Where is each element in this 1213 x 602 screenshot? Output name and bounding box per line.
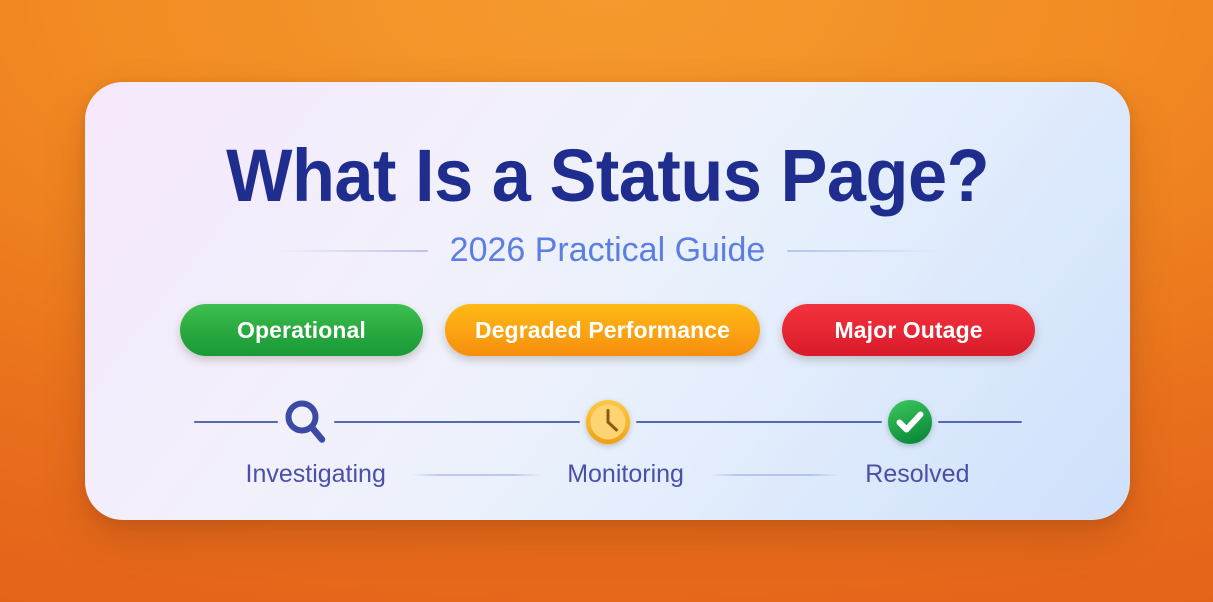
status-pill-degraded-performance[interactable]: Degraded Performance	[445, 304, 760, 356]
status-pill-row: Operational Degraded Performance Major O…	[180, 304, 1035, 356]
subtitle-rule-left	[278, 250, 428, 252]
clock-icon	[584, 398, 632, 446]
magnifier-icon	[280, 396, 332, 448]
status-pill-degraded-performance-label: Degraded Performance	[475, 317, 730, 344]
timeline-line-2	[636, 421, 882, 423]
timeline-node-investigating[interactable]	[278, 394, 334, 450]
timeline-label-rule-1	[412, 474, 541, 476]
status-pill-major-outage[interactable]: Major Outage	[782, 304, 1035, 356]
timeline-label-monitoring: Monitoring	[567, 460, 684, 489]
timeline-node-monitoring[interactable]	[580, 394, 636, 450]
subtitle-rule-right	[787, 250, 937, 252]
timeline-node-resolved[interactable]	[882, 394, 938, 450]
status-pill-major-outage-label: Major Outage	[834, 317, 982, 344]
status-pill-operational-label: Operational	[237, 317, 366, 344]
timeline-line-start	[194, 421, 278, 423]
timeline-line-end	[938, 421, 1022, 423]
timeline-label-row: Investigating Monitoring Resolved	[194, 460, 1022, 489]
timeline-label-resolved: Resolved	[865, 460, 969, 489]
timeline-label-rule-2	[710, 474, 839, 476]
timeline-line-1	[334, 421, 580, 423]
status-pill-operational[interactable]: Operational	[180, 304, 423, 356]
page-subtitle: 2026 Practical Guide	[450, 231, 766, 270]
incident-timeline: Investigating Monitoring Resolved	[194, 394, 1022, 489]
status-page-card: What Is a Status Page? 2026 Practical Gu…	[85, 82, 1130, 520]
timeline-track	[194, 394, 1022, 450]
page-title: What Is a Status Page?	[226, 138, 989, 213]
subtitle-row: 2026 Practical Guide	[85, 231, 1130, 270]
timeline-label-investigating: Investigating	[246, 460, 386, 489]
check-circle-icon	[886, 398, 934, 446]
